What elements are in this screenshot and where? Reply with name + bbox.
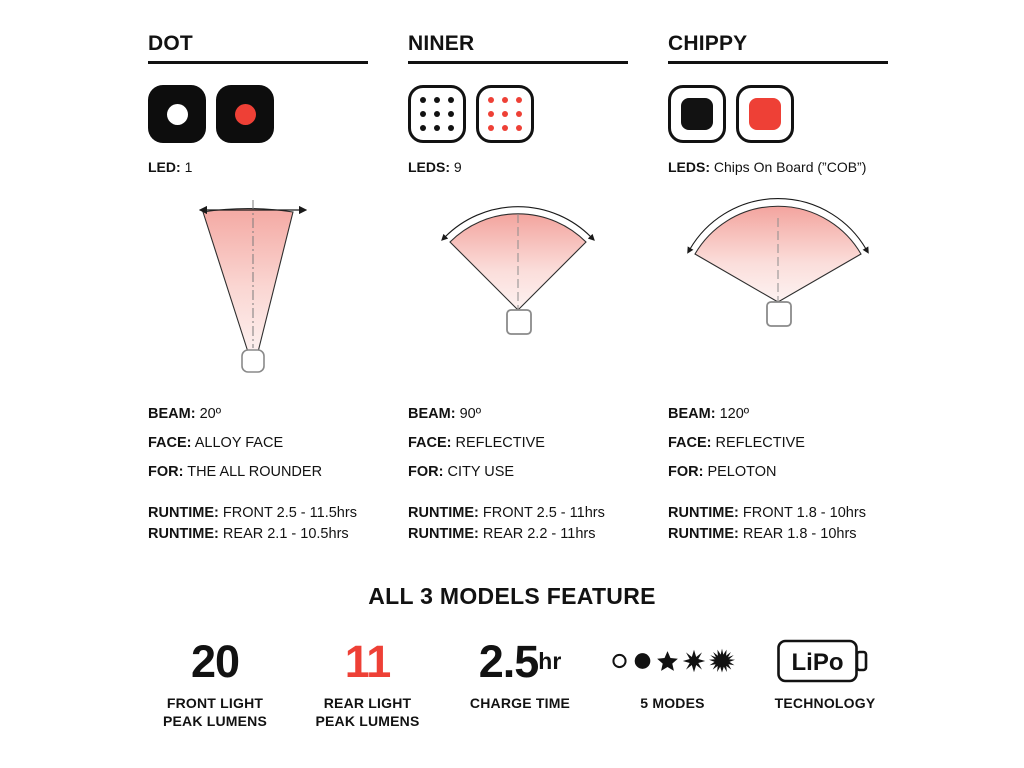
battery-terminal: [857, 652, 866, 670]
runtime-key: RUNTIME:: [408, 526, 479, 542]
runtime-key: RUNTIME:: [408, 505, 479, 521]
model-column-niner: NINER: [408, 32, 628, 545]
spec-beam: BEAM: 20º: [148, 400, 368, 429]
spec-value: PELOTON: [707, 464, 776, 480]
runtime-key: RUNTIME:: [148, 526, 219, 542]
spec-value: 20º: [200, 406, 221, 422]
features-heading: ALL 3 MODELS FEATURE: [0, 583, 1024, 610]
features-row: 20 FRONT LIGHT PEAK LUMENS 11 REAR LIGHT…: [140, 638, 900, 730]
spec-value: REFLECTIVE: [456, 435, 545, 451]
title-underline: [668, 61, 888, 64]
infographic-page: DOT LED: 1: [0, 0, 1024, 768]
led-icon-red-cob: [736, 85, 794, 143]
cob-panel: [681, 98, 713, 130]
caption-line-1: FRONT LIGHT: [140, 694, 290, 712]
led-count-label: LEDS: Chips On Board (”COB”): [668, 158, 888, 176]
runtime-value: FRONT 2.5 - 11.5hrs: [223, 505, 357, 521]
led-dot: [420, 111, 426, 117]
spec-value: ALLOY FACE: [195, 435, 283, 451]
led-dot: [420, 97, 426, 103]
light-unit-icon: [767, 302, 791, 326]
runtime-key: RUNTIME:: [668, 526, 739, 542]
spec-key: BEAM:: [148, 406, 196, 422]
spec-key: FOR:: [668, 464, 703, 480]
feature-figure: 2.5hr: [445, 638, 595, 684]
model-columns: DOT LED: 1: [148, 32, 888, 545]
runtime-value: FRONT 1.8 - 10hrs: [743, 505, 866, 521]
spec-key: FACE:: [668, 435, 712, 451]
feature-figure: [598, 638, 748, 684]
charge-time-value: 2.5: [479, 639, 539, 684]
feature-lipo: LiPo TECHNOLOGY: [750, 638, 900, 712]
spec-key: BEAM:: [408, 406, 456, 422]
led-dot: [502, 97, 508, 103]
led-count-value: 9: [454, 159, 462, 175]
led-dot: [434, 111, 440, 117]
runtime-front: RUNTIME: FRONT 1.8 - 10hrs: [668, 503, 888, 524]
starburst-icon: [709, 648, 735, 674]
caption-line-1: 5 MODES: [598, 694, 748, 712]
runtime-value: REAR 2.2 - 11hrs: [483, 526, 596, 542]
led-dot: [516, 111, 522, 117]
led-count-value: 1: [185, 159, 193, 175]
feature-front-lumens: 20 FRONT LIGHT PEAK LUMENS: [140, 638, 290, 730]
light-unit-icon: [507, 310, 531, 334]
led-dot: [502, 125, 508, 131]
spec-beam: BEAM: 120º: [668, 400, 888, 429]
spec-face: FACE: REFLECTIVE: [408, 429, 628, 458]
led-dot-grid: [420, 97, 454, 131]
beam-diagram-narrow-cone: [148, 192, 368, 392]
led-icon-group: [408, 84, 628, 144]
feature-caption: REAR LIGHT PEAK LUMENS: [293, 694, 443, 730]
runtime-rear: RUNTIME: REAR 1.8 - 10hrs: [668, 524, 888, 545]
beam-diagram-wide-wedge: [408, 192, 628, 392]
runtime-key: RUNTIME:: [668, 505, 739, 521]
runtime-list: RUNTIME: FRONT 1.8 - 10hrs RUNTIME: REAR…: [668, 503, 888, 545]
led-dot: [434, 125, 440, 131]
led-count-key: LEDS:: [668, 159, 710, 175]
spec-beam: BEAM: 90º: [408, 400, 628, 429]
feature-caption: 5 MODES: [598, 694, 748, 712]
model-title: CHIPPY: [668, 32, 888, 56]
model-title: DOT: [148, 32, 368, 56]
runtime-value: REAR 1.8 - 10hrs: [743, 526, 857, 542]
spec-key: FOR:: [148, 464, 183, 480]
led-icon-group: [148, 84, 368, 144]
title-underline: [408, 61, 628, 64]
led-count-label: LED: 1: [148, 158, 368, 176]
spec-list: BEAM: 120º FACE: REFLECTIVE FOR: PELOTON: [668, 400, 888, 487]
led-count-label: LEDS: 9: [408, 158, 628, 176]
eight-point-star-icon: [682, 649, 706, 673]
led-dot: [448, 111, 454, 117]
spec-for: FOR: CITY USE: [408, 458, 628, 487]
spec-key: FACE:: [408, 435, 452, 451]
led-dot: [167, 104, 188, 125]
caption-line-2: PEAK LUMENS: [293, 712, 443, 730]
beam-svg-chippy: [668, 192, 888, 392]
led-icon-group: [668, 84, 888, 144]
spec-for: FOR: PELOTON: [668, 458, 888, 487]
feature-caption: FRONT LIGHT PEAK LUMENS: [140, 694, 290, 730]
spec-key: FOR:: [408, 464, 443, 480]
charge-time-unit: hr: [538, 639, 561, 684]
runtime-value: REAR 2.1 - 10.5hrs: [223, 526, 349, 542]
hollow-circle-icon: [610, 650, 629, 672]
modes-icon-group: [610, 648, 735, 674]
led-dot: [420, 125, 426, 131]
led-dot: [235, 104, 256, 125]
led-dot: [516, 125, 522, 131]
feature-charge-time: 2.5hr CHARGE TIME: [445, 638, 595, 712]
spec-key: FACE:: [148, 435, 192, 451]
caption-line-2: PEAK LUMENS: [140, 712, 290, 730]
feature-caption: CHARGE TIME: [445, 694, 595, 712]
led-icon-red-grid: [476, 85, 534, 143]
caption-line-1: REAR LIGHT: [293, 694, 443, 712]
feature-rear-lumens: 11 REAR LIGHT PEAK LUMENS: [293, 638, 443, 730]
led-icon-red: [216, 85, 274, 143]
led-count-value: Chips On Board (”COB”): [714, 159, 866, 175]
led-dot: [516, 97, 522, 103]
spec-value: 90º: [460, 406, 481, 422]
spec-face: FACE: REFLECTIVE: [668, 429, 888, 458]
five-point-star-icon: [656, 650, 679, 673]
battery-label: LiPo: [792, 649, 844, 676]
runtime-list: RUNTIME: FRONT 2.5 - 11.5hrs RUNTIME: RE…: [148, 503, 368, 545]
runtime-rear: RUNTIME: REAR 2.1 - 10.5hrs: [148, 524, 368, 545]
spec-value: CITY USE: [447, 464, 514, 480]
caption-line-1: CHARGE TIME: [445, 694, 595, 712]
led-dot: [488, 97, 494, 103]
spec-value: THE ALL ROUNDER: [187, 464, 322, 480]
rear-lumens-value: 11: [345, 639, 391, 684]
feature-modes: 5 MODES: [598, 638, 748, 712]
cob-panel: [749, 98, 781, 130]
beam-svg-niner: [408, 192, 628, 392]
led-count-key: LED:: [148, 159, 181, 175]
runtime-list: RUNTIME: FRONT 2.5 - 11hrs RUNTIME: REAR…: [408, 503, 628, 545]
feature-figure: 20: [140, 638, 290, 684]
model-column-dot: DOT LED: 1: [148, 32, 368, 545]
runtime-key: RUNTIME:: [148, 505, 219, 521]
feature-caption: TECHNOLOGY: [750, 694, 900, 712]
spec-value: REFLECTIVE: [716, 435, 805, 451]
spec-key: BEAM:: [668, 406, 716, 422]
spec-list: BEAM: 20º FACE: ALLOY FACE FOR: THE ALL …: [148, 400, 368, 487]
spec-for: FOR: THE ALL ROUNDER: [148, 458, 368, 487]
led-icon-black-grid: [408, 85, 466, 143]
runtime-front: RUNTIME: FRONT 2.5 - 11hrs: [408, 503, 628, 524]
front-lumens-value: 20: [191, 639, 239, 684]
runtime-front: RUNTIME: FRONT 2.5 - 11.5hrs: [148, 503, 368, 524]
led-dot: [502, 111, 508, 117]
feature-figure: LiPo: [750, 638, 900, 684]
light-unit-icon: [242, 350, 264, 372]
lipo-battery-icon: LiPo: [777, 638, 873, 684]
filled-circle-icon: [632, 650, 653, 672]
led-dot: [448, 125, 454, 131]
spec-list: BEAM: 90º FACE: REFLECTIVE FOR: CITY USE: [408, 400, 628, 487]
runtime-value: FRONT 2.5 - 11hrs: [483, 505, 605, 521]
model-title: NINER: [408, 32, 628, 56]
spec-face: FACE: ALLOY FACE: [148, 429, 368, 458]
title-underline: [148, 61, 368, 64]
led-icon-black-cob: [668, 85, 726, 143]
runtime-rear: RUNTIME: REAR 2.2 - 11hrs: [408, 524, 628, 545]
led-dot: [488, 125, 494, 131]
beam-cone: [203, 209, 293, 353]
led-dot-grid: [488, 97, 522, 131]
spec-value: 120º: [720, 406, 750, 422]
caption-line-1: TECHNOLOGY: [750, 694, 900, 712]
feature-figure: 11: [293, 638, 443, 684]
led-dot: [488, 111, 494, 117]
beam-svg-dot: [148, 192, 368, 392]
beam-diagram-widest-wedge: [668, 192, 888, 392]
led-icon-white: [148, 85, 206, 143]
led-dot: [434, 97, 440, 103]
led-count-key: LEDS:: [408, 159, 450, 175]
led-dot: [448, 97, 454, 103]
model-column-chippy: CHIPPY LEDS: Chips On Board (”COB”): [668, 32, 888, 545]
